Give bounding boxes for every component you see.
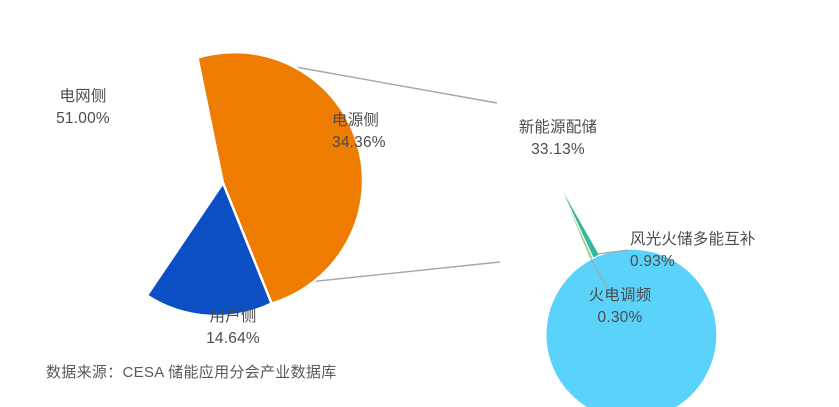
slice-thermal[interactable] [557,180,593,259]
label-new-energy: 新能源配储 33.13% [488,117,628,161]
label-source-side-name: 电源侧 [332,110,442,132]
label-grid-side: 电网侧 51.00% [28,86,138,130]
label-wind-solar-name: 风光火储多能互补 [630,229,770,251]
label-source-side-pct: 34.36% [332,132,442,154]
label-new-energy-name: 新能源配储 [488,117,628,139]
label-wind-solar-pct: 0.93% [630,251,770,273]
label-grid-side-pct: 51.00% [28,108,138,130]
label-grid-side-name: 电网侧 [28,86,138,108]
label-thermal: 火电调频 0.30% [560,285,680,329]
label-thermal-name: 火电调频 [560,285,680,307]
chart-canvas: 电网侧 51.00% 电源侧 34.36% 用户侧 14.64% 新能源配储 3… [0,0,839,407]
label-user-side-pct: 14.64% [168,328,298,350]
label-thermal-pct: 0.30% [560,307,680,329]
label-user-side-name: 用户侧 [168,306,298,328]
slice-wind-solar[interactable] [557,180,600,258]
source-note: 数据来源：CESA 储能应用分会产业数据库 [46,361,337,382]
main-pie-group [147,52,363,316]
label-source-side: 电源侧 34.36% [332,110,442,154]
label-wind-solar: 风光火储多能互补 0.93% [630,229,770,273]
label-user-side: 用户侧 14.64% [168,306,298,350]
label-new-energy-pct: 33.13% [488,139,628,161]
pie-chart-figure [0,0,839,407]
